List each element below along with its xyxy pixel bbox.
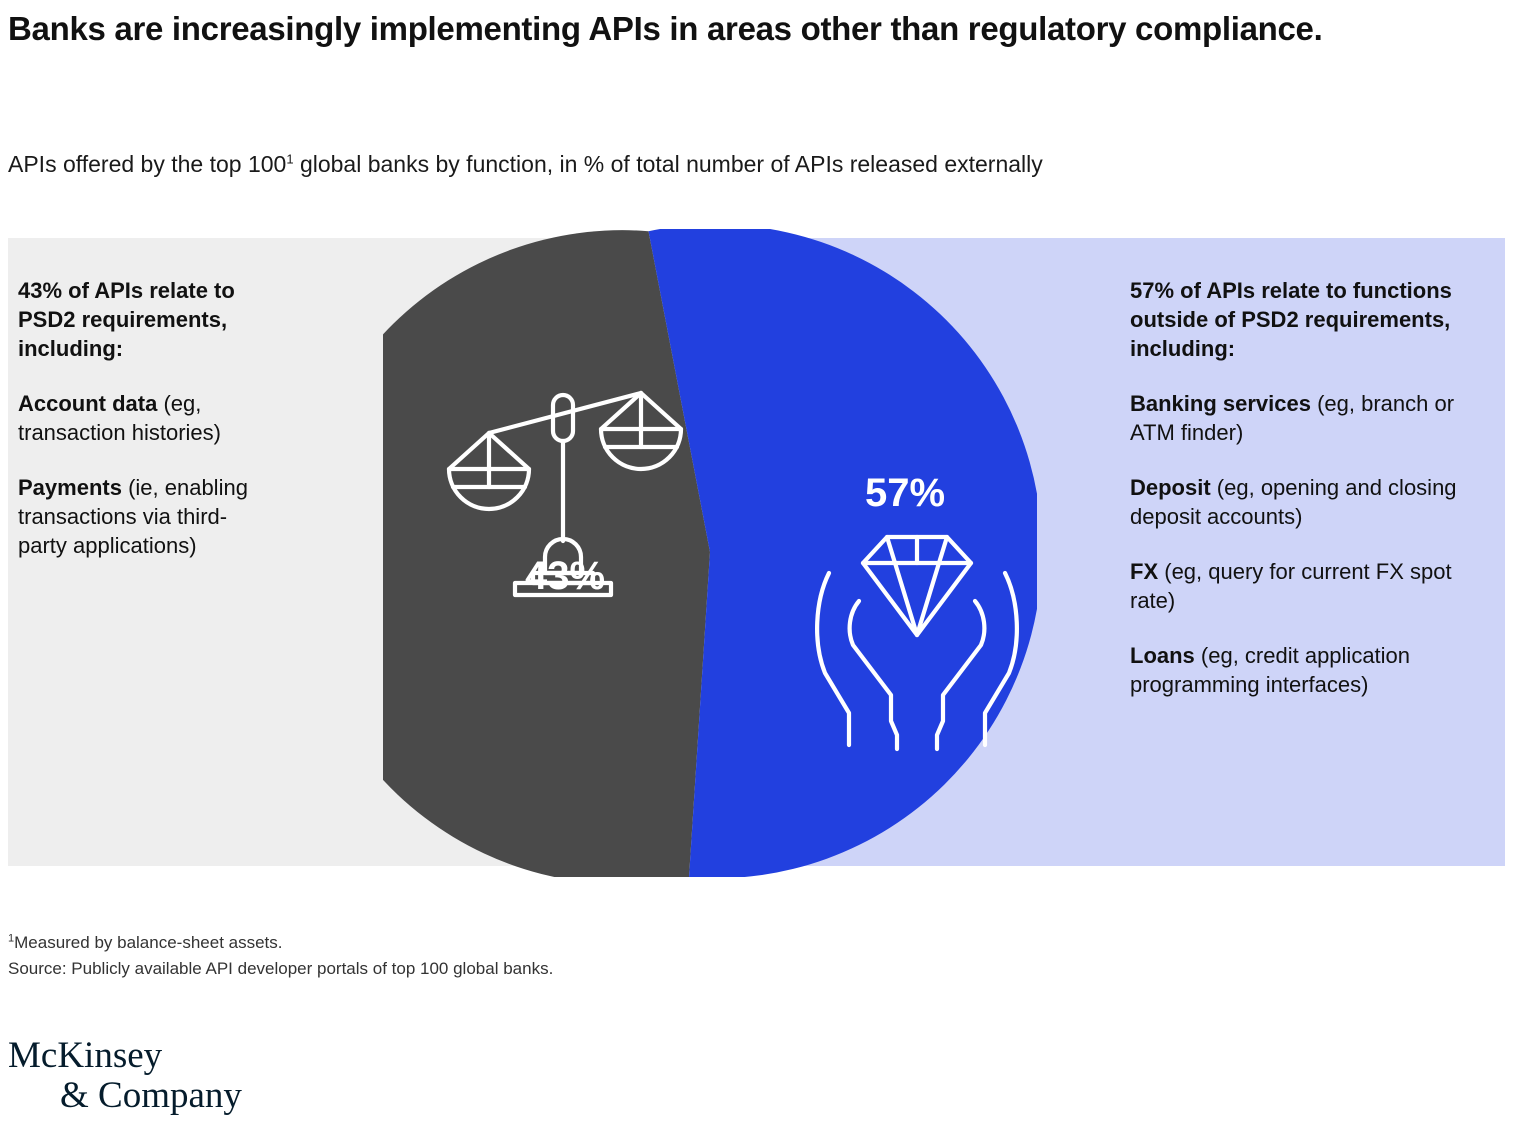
footnote-source: Source: Publicly available API developer… bbox=[8, 956, 553, 982]
non-psd2-item-deposit: Deposit (eg, opening and closing deposit… bbox=[1130, 473, 1495, 531]
logo-line-2: & Company bbox=[8, 1076, 308, 1116]
non-psd2-item-banking-services-term: Banking services bbox=[1130, 391, 1311, 416]
subtitle-text-after: global banks by function, in % of total … bbox=[294, 151, 1043, 177]
mckinsey-logo: McKinsey & Company bbox=[8, 1036, 308, 1116]
non-psd2-item-deposit-term: Deposit bbox=[1130, 475, 1211, 500]
psd2-lead-text: 43% of APIs relate to PSD2 requirements,… bbox=[18, 276, 250, 363]
psd2-item-account-data: Account data (eg, transaction histories) bbox=[18, 389, 250, 447]
subtitle-text-before: APIs offered by the top 100 bbox=[8, 151, 286, 177]
non-psd2-item-loans: Loans (eg, credit application programmin… bbox=[1130, 641, 1495, 699]
non-psd2-lead-text: 57% of APIs relate to functions outside … bbox=[1130, 276, 1495, 363]
pie-label-non-psd2: 57% bbox=[865, 471, 945, 515]
psd2-description-block: 43% of APIs relate to PSD2 requirements,… bbox=[18, 276, 250, 560]
subtitle-footnote-marker: 1 bbox=[286, 151, 293, 166]
footnote-note: 1Measured by balance-sheet assets. bbox=[8, 930, 553, 956]
non-psd2-item-fx: FX (eg, query for current FX spot rate) bbox=[1130, 557, 1495, 615]
footnotes: 1Measured by balance-sheet assets. Sourc… bbox=[8, 930, 553, 981]
psd2-item-payments: Payments (ie, enabling transactions via … bbox=[18, 473, 250, 560]
page-title: Banks are increasingly implementing APIs… bbox=[8, 8, 1428, 50]
pie-chart-svg: 43% 57% bbox=[383, 229, 1037, 877]
psd2-item-account-data-term: Account data bbox=[18, 391, 157, 416]
non-psd2-item-fx-term: FX bbox=[1130, 559, 1158, 584]
non-psd2-item-banking-services: Banking services (eg, branch or ATM find… bbox=[1130, 389, 1495, 447]
psd2-item-payments-term: Payments bbox=[18, 475, 122, 500]
non-psd2-item-fx-detail: (eg, query for current FX spot rate) bbox=[1130, 559, 1452, 613]
non-psd2-description-block: 57% of APIs relate to functions outside … bbox=[1130, 276, 1495, 699]
chart-subtitle: APIs offered by the top 1001 global bank… bbox=[8, 150, 1488, 180]
pie-chart: 43% 57% bbox=[383, 229, 1037, 877]
logo-line-1: McKinsey bbox=[8, 1035, 162, 1076]
non-psd2-item-loans-term: Loans bbox=[1130, 643, 1195, 668]
footnote-note-text: Measured by balance-sheet assets. bbox=[14, 933, 282, 952]
